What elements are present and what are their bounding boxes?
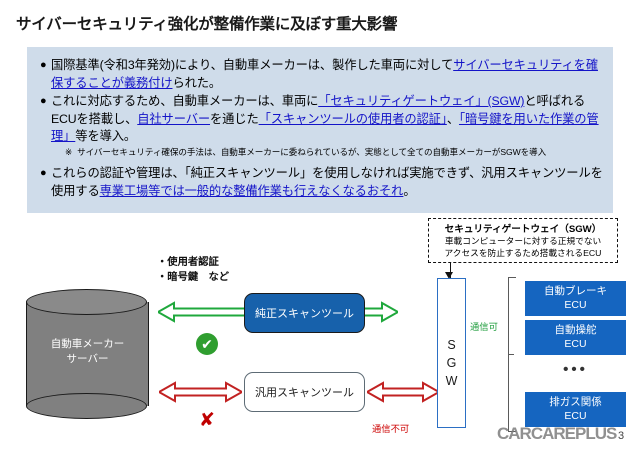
footnote: ※サイバーセキュリティ確保の手法は、自動車メーカーに委ねられているが、実態として… (65, 146, 595, 158)
communication-allowed-label: 通信可 (470, 319, 498, 333)
sgw-callout-desc-line1: 車載コンピューターに対する正規でない (435, 236, 611, 248)
bullet-marker-icon: ● (40, 57, 51, 74)
communication-blocked-label: 通信不可 (372, 421, 409, 435)
server-label-line2: サーバー (26, 352, 149, 367)
auth-note-line2: ・暗号鍵 など (157, 271, 229, 286)
ecu-ellipsis: ••• (525, 361, 626, 378)
bullet-2-seg-8: 等を導入。 (75, 129, 136, 143)
sgw-letter-3: W (438, 372, 465, 390)
bullet-2-seg-1: 「セキュリティゲートウェイ」(SGW) (318, 94, 524, 108)
check-circle-icon: ✔ (196, 333, 218, 355)
bullet-text-1: 国際基準(令和3年発効)により、自動車メーカーは、製作した車両に対してサイバーセ… (51, 57, 605, 92)
cross-mark-icon: ✘ (196, 411, 218, 431)
bullet-marker-icon: ● (40, 165, 51, 182)
generic-scan-tool-label: 汎用スキャンツール (255, 384, 354, 400)
server-label-line1: 自動車メーカー (26, 337, 149, 352)
bullet-1-seg-2: られた。 (172, 76, 221, 90)
bullet-1-seg-0: 国際基準(令和3年発効)により、自動車メーカーは、製作した車両に対して (51, 58, 453, 72)
genuine-scan-tool-label: 純正スキャンツール (255, 305, 354, 321)
sgw-callout-box: セキュリティゲートウェイ（SGW） 車載コンピューターに対する正規でない アクセ… (428, 218, 618, 263)
watermark-logo: CARCAREPLUS (497, 424, 616, 444)
red-bidirectional-arrow-right (367, 381, 439, 403)
bullet-2-seg-4: を通じた (210, 112, 259, 126)
ecu-box-emissions[interactable]: 排ガス関係 ECU (525, 392, 626, 427)
authentication-note: ・使用者認証 ・暗号鍵 など (157, 256, 229, 285)
bullet-2-seg-3: 自社サーバー (137, 112, 210, 126)
ecu-2-line1: 排ガス関係 (525, 395, 626, 409)
auth-note-line1: ・使用者認証 (157, 256, 229, 271)
bullet-2-seg-6: 、 (447, 112, 459, 126)
bullet-2-seg-0: これに対応するため、自動車メーカーは、車両に (51, 94, 318, 108)
server-label: 自動車メーカー サーバー (26, 337, 149, 367)
cylinder-bottom-ellipse (26, 393, 147, 419)
page-title: サイバーセキュリティ強化が整備作業に及ぼす重大影響 (16, 12, 397, 34)
ecu-1-line2: ECU (525, 337, 626, 351)
ecu-1-line1: 自動操舵 (525, 323, 626, 337)
diagram-area: 自動車メーカー サーバー ・使用者認証 ・暗号鍵 など 純正スキャンツール 汎用… (0, 215, 640, 451)
bullet-item-2: ● これに対応するため、自動車メーカーは、車両に「セキュリティゲートウェイ」(S… (40, 93, 608, 146)
sgw-letter-2: G (438, 354, 465, 372)
ecu-0-line2: ECU (525, 298, 626, 312)
page-number: 3 (618, 430, 624, 442)
bullet-2-seg-5: 「スキャンツールの使用者の認証」 (259, 112, 447, 126)
red-bidirectional-arrow-left (159, 381, 242, 403)
bullet-item-1: ● 国際基準(令和3年発効)により、自動車メーカーは、製作した車両に対してサイバ… (40, 57, 605, 92)
bullet-item-3: ● これらの認証や管理は、「純正スキャンツール」を使用しなければ実施できず、汎用… (40, 165, 606, 200)
bullet-3-seg-2: 。 (403, 184, 415, 198)
sgw-letters: S G W (438, 336, 465, 390)
bullet-text-3: これらの認証や管理は、「純正スキャンツール」を使用しなければ実施できず、汎用スキ… (51, 165, 606, 200)
ecu-bracket-tick (508, 354, 514, 355)
bullet-text-2: これに対応するため、自動車メーカーは、車両に「セキュリティゲートウェイ」(SGW… (51, 93, 608, 146)
ecu-0-line1: 自動ブレーキ (525, 284, 626, 298)
sgw-callout-desc-line2: アクセスを防止するため搭載されるECU (435, 248, 611, 260)
genuine-scan-tool-box[interactable]: 純正スキャンツール (244, 293, 365, 333)
footnote-text: サイバーセキュリティ確保の手法は、自動車メーカーに委ねられているが、実態として全… (77, 147, 546, 157)
automaker-server-cylinder: 自動車メーカー サーバー (26, 289, 149, 419)
bullet-3-seg-1: 専業工場等では一般的な整備作業も行えなくなるおそれ (100, 184, 404, 198)
cylinder-top-ellipse (26, 289, 147, 315)
bullet-marker-icon: ● (40, 93, 51, 110)
ecu-box-auto-brake[interactable]: 自動ブレーキ ECU (525, 281, 626, 316)
generic-scan-tool-box[interactable]: 汎用スキャンツール (244, 372, 365, 412)
ecu-2-line2: ECU (525, 409, 626, 423)
footnote-mark-icon: ※ (65, 147, 72, 157)
content-panel: ● 国際基準(令和3年発効)により、自動車メーカーは、製作した車両に対してサイバ… (27, 47, 613, 213)
sgw-callout-title: セキュリティゲートウェイ（SGW） (435, 223, 611, 236)
sgw-gateway-bar: S G W (437, 278, 466, 428)
ecu-box-auto-steering[interactable]: 自動操舵 ECU (525, 320, 626, 355)
sgw-letter-1: S (438, 336, 465, 354)
